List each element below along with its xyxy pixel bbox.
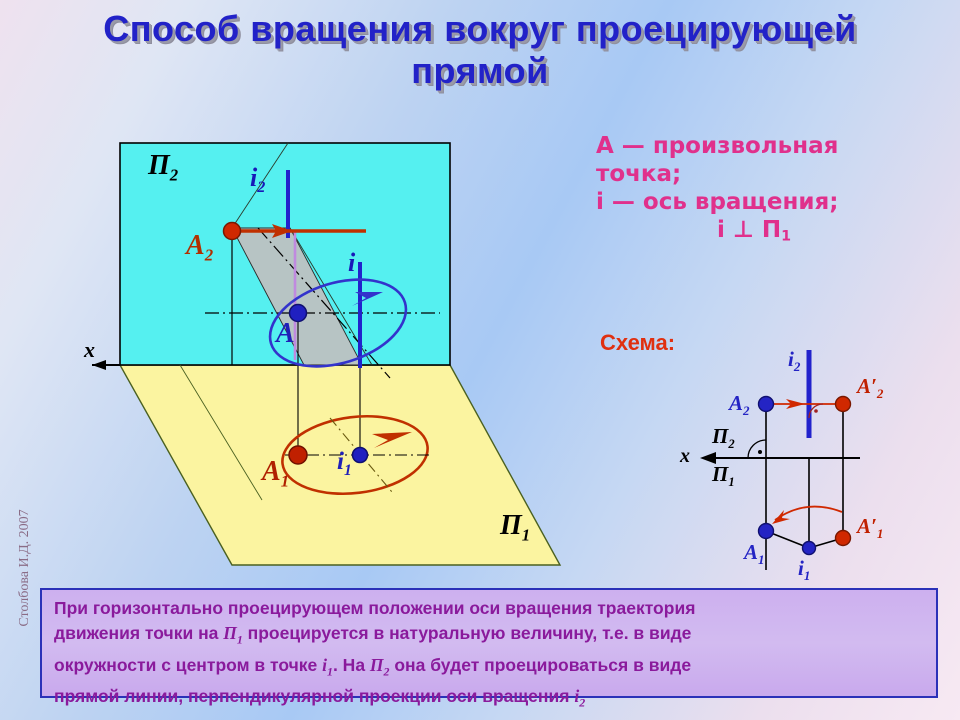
definition-line-3: i ⊥ П1 <box>596 216 952 251</box>
author-credit: Столбова И.Д. 2007 <box>17 473 33 663</box>
label-A-pictorial: A <box>276 318 295 350</box>
schema-label-pi2: П2 <box>712 424 735 452</box>
depth-ray-3 <box>180 365 262 500</box>
label-A1-pictorial: A1 <box>262 456 289 492</box>
trajectory-ellipse-pi1 <box>278 408 432 501</box>
definition-line-1b: точка; <box>596 160 952 188</box>
schema-point-A1 <box>759 524 774 539</box>
label-i2-pictorial: i2 <box>250 163 265 197</box>
schema-label-x: x <box>680 445 690 468</box>
label-pi2-pictorial: П2 <box>148 150 178 186</box>
schema-right-angle-lower <box>748 440 766 458</box>
schema-trajectory-pi1-arrow <box>772 510 790 524</box>
trajectory-arrow-pi1 <box>372 432 412 448</box>
schema-point-A1-prime <box>836 531 851 546</box>
label-x-pictorial: x <box>84 337 95 363</box>
definitions-block: A — произвольная точка; i — ось вращения… <box>596 132 952 251</box>
rotation-plane-shape <box>232 228 362 365</box>
schema-label-i1: i1 <box>798 556 810 584</box>
schema-right-angle-dot-lower <box>758 450 762 454</box>
definition-line-1: A — произвольная <box>596 132 952 160</box>
depth-ray-2 <box>290 228 372 365</box>
schema-point-i1 <box>803 542 816 555</box>
schema-label-pi1: П1 <box>712 462 735 490</box>
label-A2-pictorial: A2 <box>186 230 213 266</box>
schema-chord-A1-i1 <box>766 531 809 548</box>
point-i1 <box>353 448 368 463</box>
label-pi1-pictorial: П1 <box>500 510 530 546</box>
schema-label-A1: A1 <box>744 540 765 568</box>
trajectory-arrow-pi2 <box>352 292 383 306</box>
schema-label: Схема: <box>600 330 675 356</box>
schema-label-A2: A2 <box>729 391 750 419</box>
point-A1 <box>289 446 307 464</box>
note-line-3: окружности с центром в точке i1. На П2 о… <box>54 653 926 685</box>
axis-oblique-pi2 <box>258 228 390 378</box>
note-line-2: движения точки на П1 проецируется в нату… <box>54 621 926 653</box>
schema-trajectory-pi2-arrow <box>786 399 805 409</box>
label-i1-pictorial: i1 <box>337 448 352 480</box>
slide-canvas: Способ вращения вокруг проецирующей прям… <box>0 0 960 720</box>
page-title: Способ вращения вокруг проецирующей прям… <box>40 8 920 92</box>
note-line-4: прямой линии, перпендикулярной проекции … <box>54 684 926 716</box>
schema-point-A2-prime <box>836 397 851 412</box>
translation-arrow-head <box>272 224 292 238</box>
schema-label-A1-prime: A′1 <box>857 514 883 542</box>
schema-label-i2: i2 <box>788 347 800 375</box>
schema-label-A2-prime: A′2 <box>857 374 883 402</box>
schema-right-angle-upper <box>809 404 823 418</box>
definition-line-2: i — ось вращения; <box>596 188 952 216</box>
point-A2 <box>224 223 241 240</box>
schema-trajectory-pi1-arc <box>775 507 842 520</box>
note-line-1: При горизонтально проецирующем положении… <box>54 596 926 621</box>
schema-right-angle-dot-upper <box>814 409 818 413</box>
schema-point-A2 <box>759 397 774 412</box>
schema-chord-i1-A1prime <box>809 538 843 548</box>
label-i-pictorial: i <box>348 248 355 278</box>
note-box: При горизонтально проецирующем положении… <box>40 588 938 698</box>
